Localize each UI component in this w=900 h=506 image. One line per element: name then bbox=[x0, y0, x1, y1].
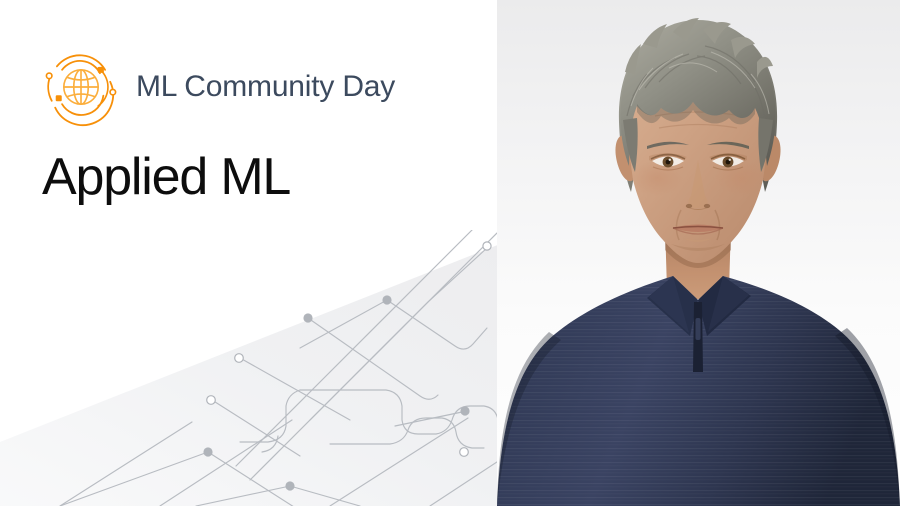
decoration-wedge-shape bbox=[0, 244, 497, 506]
page-title: Applied ML bbox=[42, 148, 290, 208]
speaker-headshot-photo bbox=[497, 0, 900, 506]
logo-orbit-arc-outer-left bbox=[48, 77, 52, 101]
decoration-node-hollow bbox=[483, 242, 491, 250]
decoration-node-filled bbox=[285, 481, 294, 490]
decoration-node-filled bbox=[382, 295, 391, 304]
decoration-filled-nodes bbox=[203, 295, 469, 490]
logo-node-square-bottom-left bbox=[56, 95, 62, 101]
presentation-slide: ML Community Day Applied ML bbox=[0, 0, 900, 506]
portrait-zipper-pull bbox=[696, 318, 701, 340]
globe-orbit-logo-icon bbox=[38, 44, 124, 130]
decoration-node-filled bbox=[460, 406, 469, 415]
decoration-node-filled bbox=[203, 447, 212, 456]
logo-node-hollow-right bbox=[110, 89, 116, 95]
left-content-panel: ML Community Day Applied ML bbox=[0, 0, 497, 506]
decoration-node-hollow bbox=[207, 396, 216, 405]
decoration-trace-cutouts bbox=[385, 258, 497, 312]
circuit-nodes-decoration bbox=[0, 230, 497, 506]
decoration-hollow-nodes bbox=[207, 242, 491, 456]
decoration-node-filled bbox=[303, 313, 312, 322]
logo-node-square-top-right bbox=[98, 67, 104, 73]
brand-lockup: ML Community Day bbox=[38, 44, 395, 130]
decoration-trace-lines bbox=[60, 230, 497, 506]
brand-wordmark: ML Community Day bbox=[136, 72, 395, 102]
decoration-node-hollow bbox=[460, 448, 469, 457]
speaker-portrait-panel bbox=[497, 0, 900, 506]
decoration-node-hollow bbox=[235, 354, 244, 363]
logo-node-hollow-left bbox=[46, 73, 52, 79]
logo-globe bbox=[64, 70, 98, 104]
